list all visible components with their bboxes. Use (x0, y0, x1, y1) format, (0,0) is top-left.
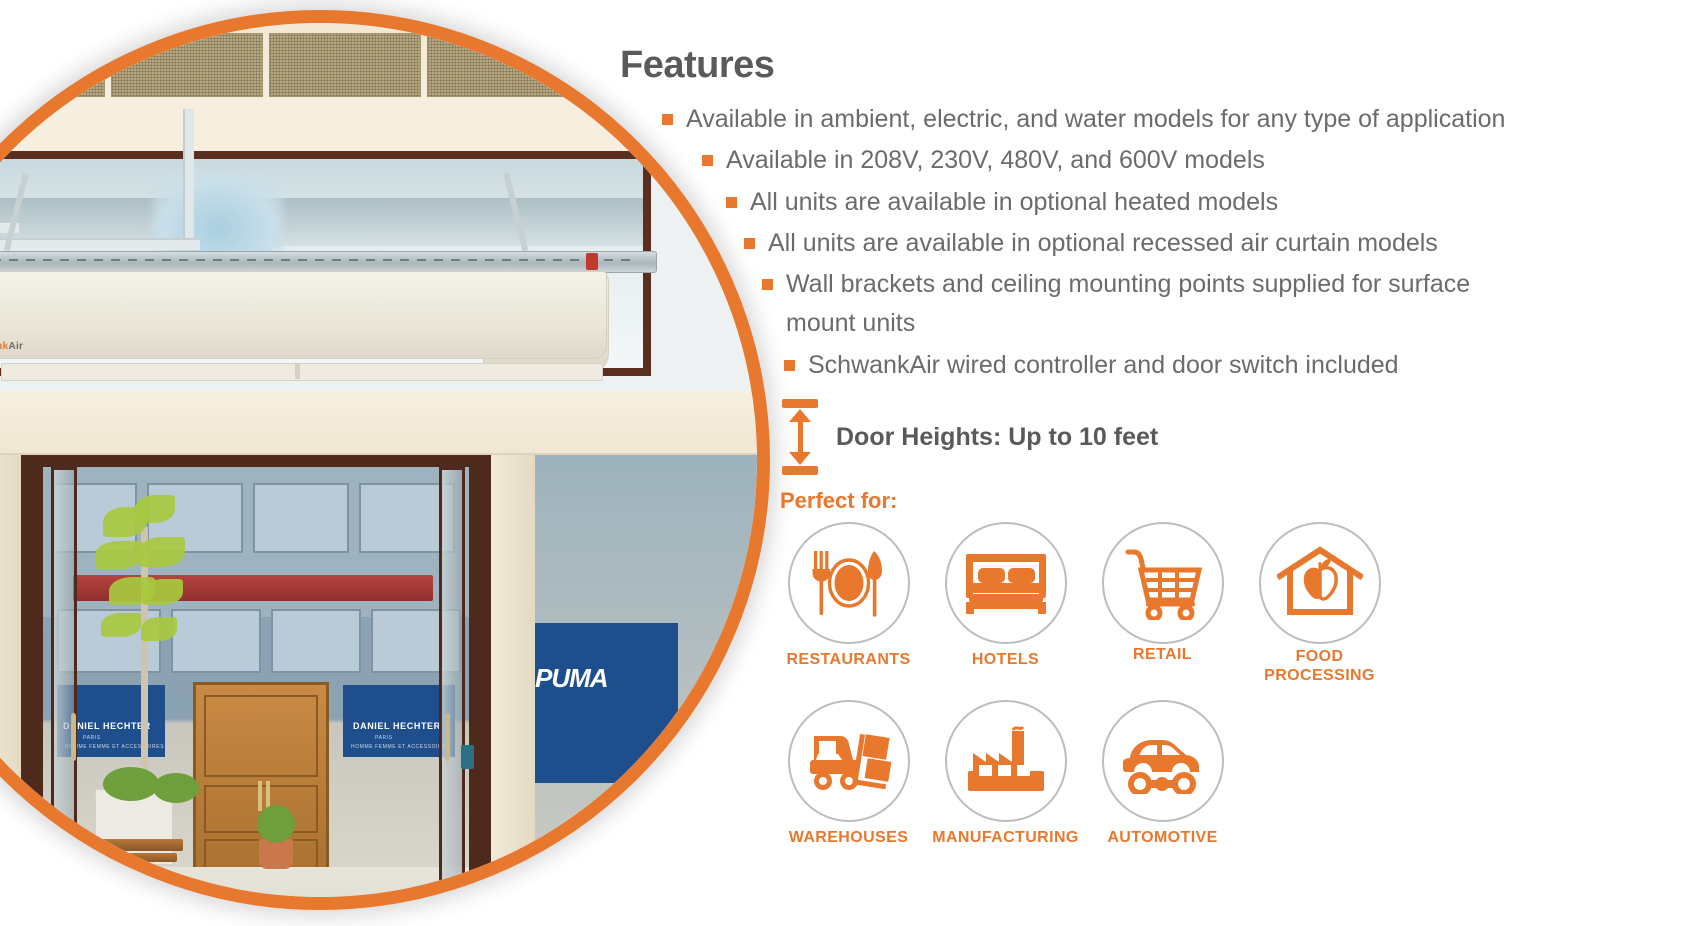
perfect-for-item-hotels[interactable]: HOTELS (927, 522, 1084, 686)
perfect-for-label: HOTELS (972, 651, 1039, 670)
car-icon (1102, 700, 1224, 822)
feature-bullet: Wall brackets and ceiling mounting point… (762, 265, 1696, 344)
factory-icon (945, 700, 1067, 822)
features-panel: Features Available in ambient, electric,… (620, 0, 1696, 926)
forklift-icon (788, 700, 910, 822)
house-apple-icon (1259, 522, 1381, 644)
perfect-for-heading: Perfect for: (780, 488, 897, 514)
feature-bullet: Available in 208V, 230V, 480V, and 600V … (702, 141, 1696, 180)
feature-bullet-text: Available in 208V, 230V, 480V, and 600V … (726, 141, 1696, 180)
perfect-for-item-automotive[interactable]: AUTOMOTIVE (1084, 700, 1241, 848)
perfect-for-item-warehouses[interactable]: WAREHOUSES (770, 700, 927, 848)
perfect-for-label: AUTOMOTIVE (1107, 829, 1217, 848)
features-heading: Features (620, 44, 774, 87)
slide-root: SchwankAir (0, 0, 1696, 926)
door-heights-row: Door Heights: Up to 10 feet (780, 398, 1158, 476)
perfect-for-label: RETAIL (1133, 646, 1192, 665)
perfect-for-icon-grid: RESTAURANTS (770, 522, 1470, 848)
bullet-square-icon (762, 279, 773, 290)
perfect-for-item-manufacturing[interactable]: MANUFACTURING (927, 700, 1084, 848)
feature-bullet: All units are available in optional rece… (744, 224, 1696, 263)
shopping-cart-icon (1102, 522, 1224, 644)
feature-bullet: All units are available in optional heat… (726, 183, 1696, 222)
perfect-for-row-1: RESTAURANTS (770, 522, 1470, 686)
perfect-for-item-food-processing[interactable]: FOOD PROCESSING (1241, 522, 1398, 686)
feature-bullet-text: Available in ambient, electric, and wate… (686, 100, 1696, 139)
bullet-square-icon (784, 360, 795, 371)
perfect-for-label: FOOD PROCESSING (1264, 648, 1375, 686)
bed-icon (945, 522, 1067, 644)
feature-bullet-text: All units are available in optional heat… (750, 183, 1696, 222)
perfect-for-item-retail[interactable]: RETAIL (1084, 522, 1241, 686)
bullet-square-icon (662, 114, 673, 125)
door-heights-label: Door Heights: Up to 10 feet (836, 423, 1158, 452)
perfect-for-label: WAREHOUSES (789, 829, 909, 848)
perfect-for-row-2: WAREHOUSES (770, 700, 1470, 848)
vertical-double-arrow-icon (780, 399, 820, 475)
perfect-for-label: RESTAURANTS (786, 651, 910, 670)
feature-bullet: SchwankAir wired controller and door swi… (784, 346, 1696, 385)
bullet-square-icon (702, 155, 713, 166)
perfect-for-item-restaurants[interactable]: RESTAURANTS (770, 522, 927, 686)
feature-bullet-text: SchwankAir wired controller and door swi… (808, 346, 1696, 385)
perfect-for-label: MANUFACTURING (932, 829, 1079, 848)
feature-bullet: Available in ambient, electric, and wate… (662, 100, 1696, 139)
unit-brand-label: SchwankAir (0, 341, 23, 352)
bullet-square-icon (726, 197, 737, 208)
perfect-for-empty-cell (1241, 700, 1398, 848)
puma-sign-label: PUMA (535, 663, 608, 694)
bullet-square-icon (744, 238, 755, 249)
feature-bullet-text: All units are available in optional rece… (768, 224, 1696, 263)
feature-bullet-text: Wall brackets and ceiling mounting point… (786, 265, 1546, 344)
features-bullet-list: Available in ambient, electric, and wate… (620, 100, 1696, 387)
restaurant-icon (788, 522, 910, 644)
